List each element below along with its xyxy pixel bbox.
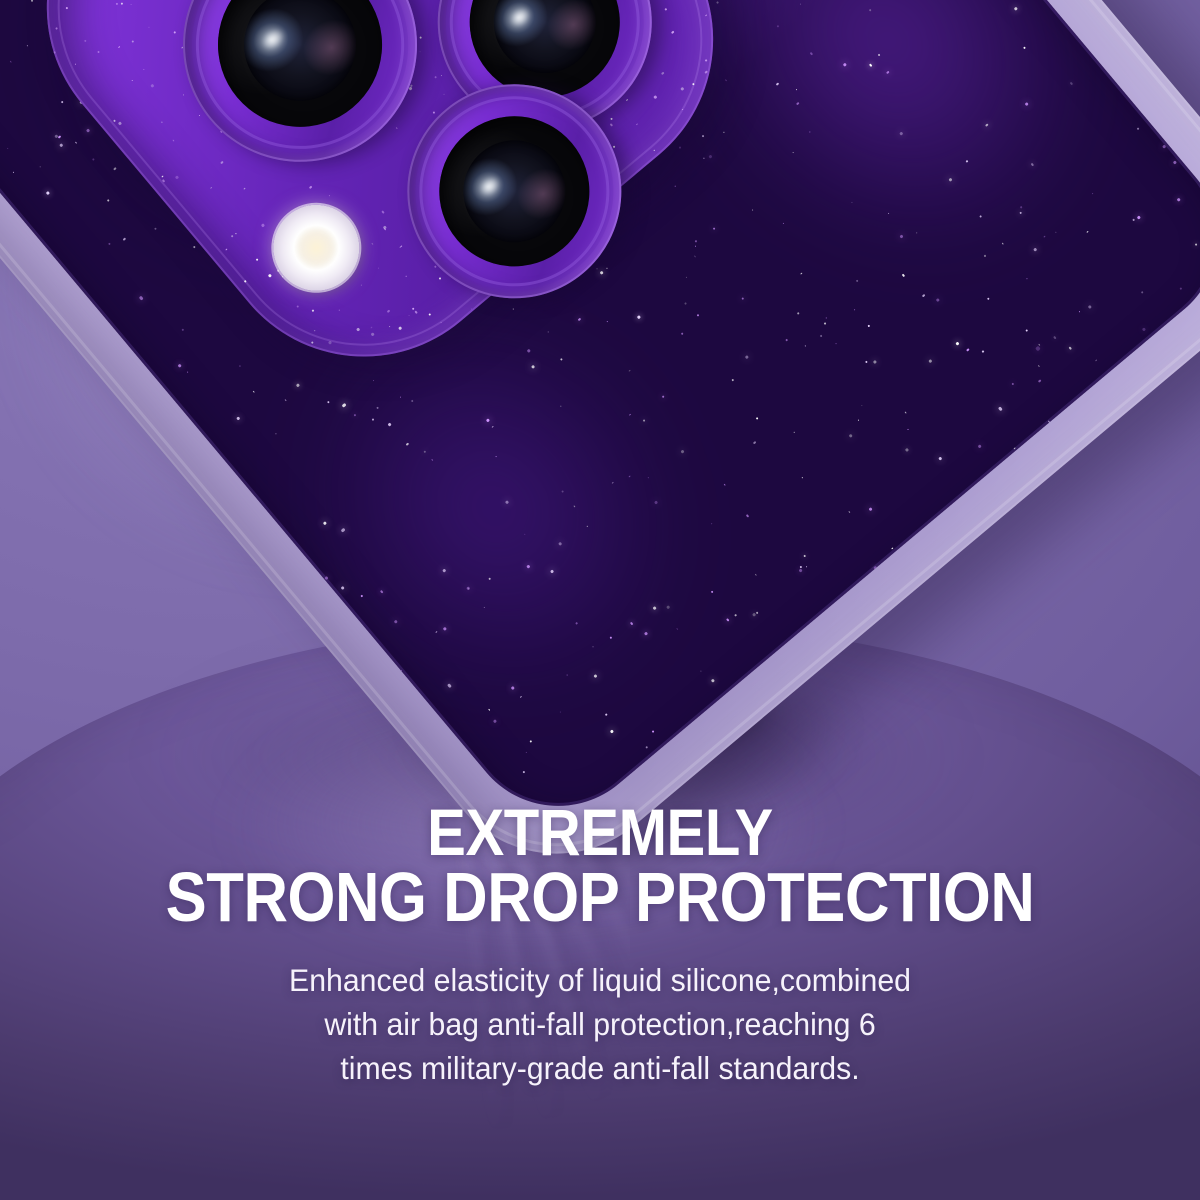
product-marketing-image: duo camera EXTREMELY STRONG DROP PROTECT… [0,0,1200,1200]
page-title: EXTREMELY STRONG DROP PROTECTION [72,800,1128,932]
body-line-1: Enhanced elasticity of liquid silicone,c… [226,958,975,1002]
body-line-3: times military-grade anti-fall standards… [226,1046,975,1090]
marketing-copy: EXTREMELY STRONG DROP PROTECTION Enhance… [0,800,1200,1090]
body-line-2: with air bag anti-fall protection,reachi… [226,1002,975,1046]
led-flash-core [285,216,348,279]
lens-specular-highlight [471,168,509,205]
lens-specular-highlight [253,19,295,60]
body-copy: Enhanced elasticity of liquid silicone,c… [226,958,975,1090]
headline-line-2: STRONG DROP PROTECTION [72,864,1128,932]
lens-specular-highlight [501,0,539,36]
